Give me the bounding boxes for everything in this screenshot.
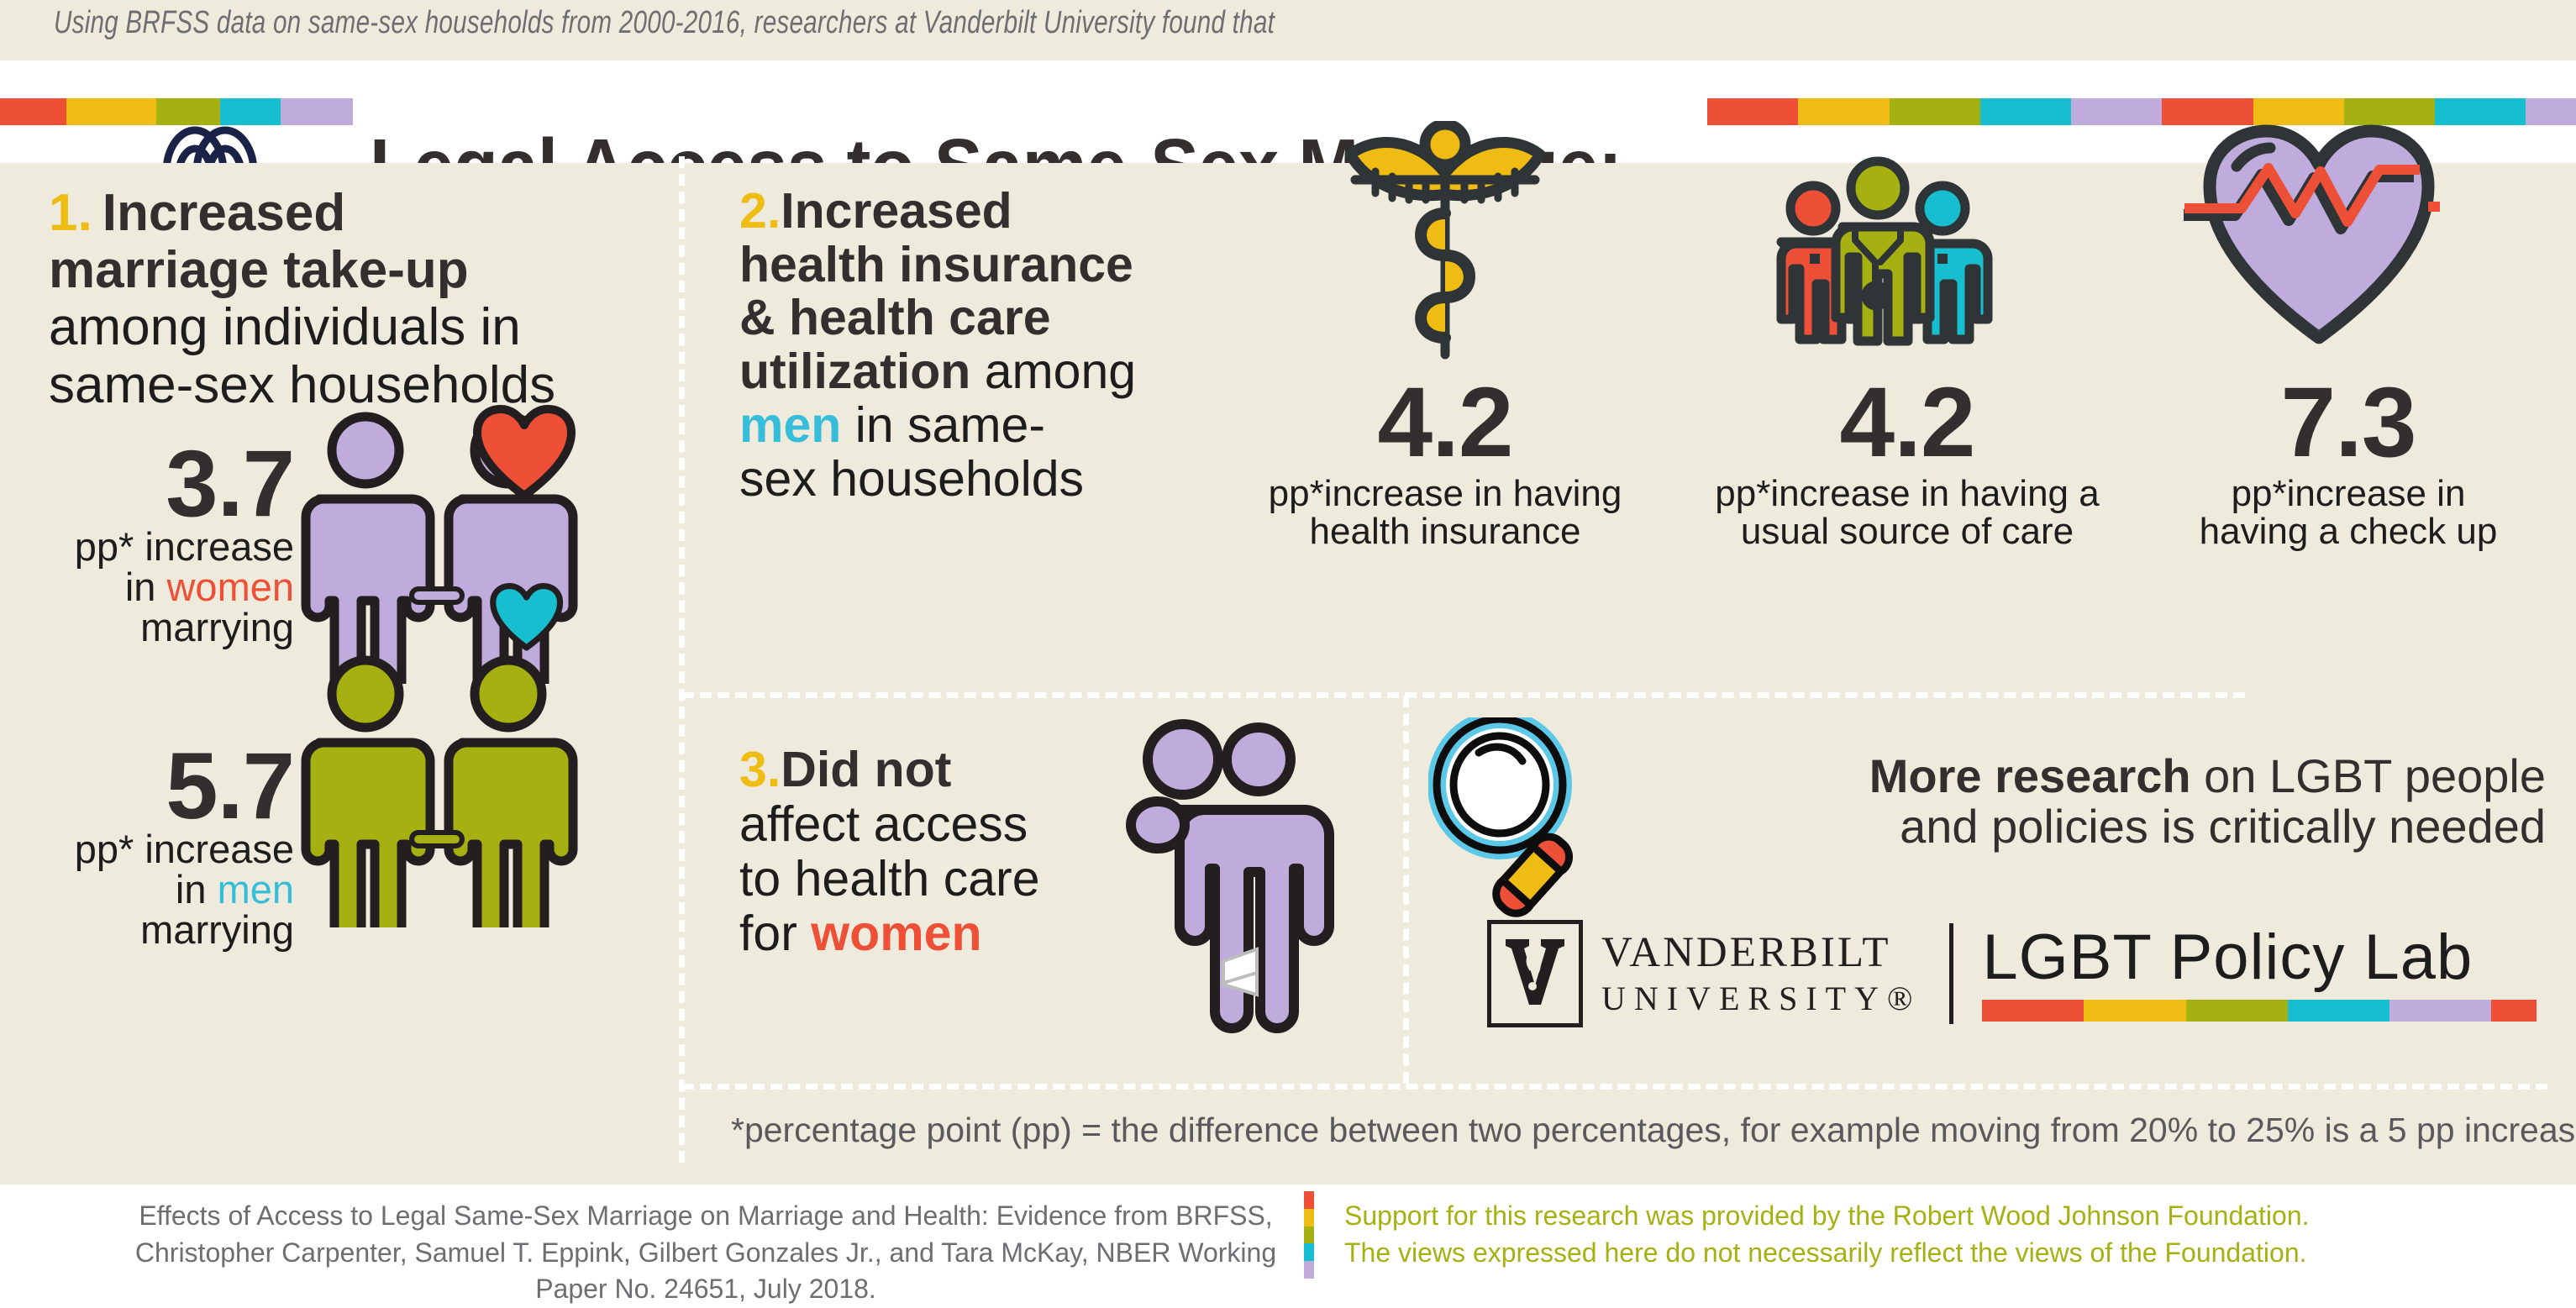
divider-horizontal-mid [682, 692, 2245, 698]
finding-3-bold-a: Did not [781, 742, 951, 797]
caduceus-icon [1323, 121, 1567, 373]
research-line2: and policies is critically needed [1900, 800, 2546, 853]
research-thin: on LGBT people [2204, 749, 2546, 802]
vanderbilt-v-icon [1487, 920, 1583, 1027]
vanderbilt-line2: UNIVERSITY® [1601, 982, 1921, 1016]
finding-2-bold-a: Increased [781, 183, 1012, 239]
marriage-stat-men: 5.7 pp* increase in men marrying [17, 743, 294, 950]
heart-ekg-icon [2176, 113, 2462, 356]
health-stat-checkup: 7.3 pp*increase in having a check up [2151, 373, 2546, 551]
finding-3-thin-a: affect access [739, 796, 1028, 852]
vanderbilt-logo: VANDERBILT UNIVERSITY® [1487, 920, 1921, 1027]
health-stat-usual-care-caption-2: usual source of care [1741, 511, 2074, 552]
finding-1-line1: Increased [103, 184, 346, 242]
research-bold: More research [1869, 749, 2191, 802]
marriage-stat-women-value: 3.7 [17, 440, 294, 527]
finding-3-marker: 3. [739, 742, 781, 797]
footnote-text: *percentage point (pp) = the difference … [731, 1111, 2546, 1150]
health-stat-checkup-value: 7.3 [2151, 373, 2546, 472]
health-stat-usual-care: 4.2 pp*increase in having a usual source… [1664, 373, 2151, 551]
main-body: 1.Increased marriage take-up among indiv… [0, 163, 2576, 1185]
marriage-stat-men-value: 5.7 [17, 743, 294, 829]
divider-vertical-left [679, 156, 685, 1163]
finding-1-heading: 1.Increased marriage take-up among indiv… [49, 185, 670, 414]
health-stat-checkup-caption-1: pp*increase in [2232, 473, 2466, 514]
citation-line2: Carpenter, Samuel T. Eppink, Gilbert Gon… [281, 1237, 1276, 1305]
marriage-stat-women-line2-prefix: in [125, 565, 167, 609]
couple-embrace-icon [1117, 717, 1369, 1070]
health-stat-insurance-value: 4.2 [1210, 373, 1680, 472]
marriage-stat-women-line1: pp* increase [75, 524, 294, 569]
marriage-stat-women: 3.7 pp* increase in women marrying [17, 440, 294, 648]
finding-2-thin-c: sex households [739, 451, 1084, 507]
finding-2-highlight: men [739, 397, 841, 453]
support-text: Support for this research was provided b… [1344, 1198, 2521, 1271]
finding-2-bold-d: utilization [739, 344, 970, 399]
health-stat-insurance: 4.2 pp*increase in having health insuran… [1210, 373, 1680, 551]
finding-3-highlight: women [811, 906, 981, 961]
marriage-stat-women-highlight: women [166, 565, 294, 609]
footer-rainbow-bar [1304, 1191, 1314, 1279]
divider-horizontal-bottom [682, 1084, 2547, 1090]
research-callout: More research on LGBT people and policie… [1428, 751, 2546, 853]
finding-1-line3: among individuals in [49, 298, 521, 356]
finding-2-bold-c: & health care [739, 290, 1051, 345]
marriage-stat-men-line3: marrying [140, 907, 294, 952]
infographic-page: Using BRFSS data on same-sex households … [0, 0, 2576, 1286]
finding-1-line2: marriage take-up [49, 241, 469, 299]
heart-cyan-icon [489, 583, 565, 652]
logo-divider [1949, 923, 1953, 1024]
finding-3-thin-b: to health care [739, 851, 1040, 906]
divider-vertical-right [1403, 696, 1409, 1084]
footer-bar: Effects of Access to Legal Same-Sex Marr… [0, 1185, 2576, 1286]
finding-3-heading: 3.Did not affect access to health care f… [739, 743, 1134, 961]
marriage-stat-men-line2-prefix: in [176, 867, 218, 911]
finding-2-bold-b: health insurance [739, 237, 1133, 292]
finding-3-block: 3.Did not affect access to health care f… [739, 743, 1134, 961]
heart-red-icon [472, 405, 577, 502]
finding-2-block: 2.Increased health insurance & health ca… [739, 185, 1210, 506]
support-line1: Support for this research was provided b… [1344, 1198, 2521, 1235]
finding-2-marker: 2. [739, 183, 781, 239]
health-stat-insurance-caption-2: health insurance [1310, 511, 1581, 552]
finding-2-thin-b: in same- [855, 397, 1045, 453]
support-line2: The views expressed here do not necessar… [1344, 1235, 2521, 1272]
logo-row: VANDERBILT UNIVERSITY® LGBT Policy Lab [1487, 919, 2554, 1028]
health-stat-insurance-caption-1: pp*increase in having [1269, 473, 1622, 514]
kicker-text: Using BRFSS data on same-sex households … [54, 5, 1275, 41]
finding-3-thin-c: for [739, 906, 797, 961]
finding-1-marker: 1. [49, 184, 92, 242]
finding-1-block: 1.Increased marriage take-up among indiv… [49, 185, 670, 414]
lgbt-policy-lab-logo: LGBT Policy Lab [1982, 926, 2537, 1022]
health-stat-checkup-caption-2: having a check up [2200, 511, 2498, 552]
vanderbilt-line1: VANDERBILT [1601, 932, 1921, 974]
lgbt-policy-lab-rainbow-bar [1982, 1000, 2537, 1022]
rainbow-bar-left [0, 98, 353, 125]
lgbt-policy-lab-name: LGBT Policy Lab [1982, 926, 2537, 990]
citation-text: Effects of Access to Legal Same-Sex Marr… [126, 1198, 1285, 1308]
marriage-stat-women-line3: marrying [140, 605, 294, 649]
vanderbilt-wordmark: VANDERBILT UNIVERSITY® [1601, 932, 1921, 1016]
research-text: More research on LGBT people and policie… [1428, 751, 2546, 853]
couple-men-icon [277, 650, 597, 927]
marriage-stat-men-line1: pp* increase [75, 827, 294, 871]
health-stat-usual-care-value: 4.2 [1664, 373, 2151, 472]
finding-2-thin-a: among [985, 344, 1136, 399]
people-group-icon [1756, 94, 2000, 363]
health-stat-usual-care-caption-1: pp*increase in having a [1715, 473, 2099, 514]
finding-2-heading: 2.Increased health insurance & health ca… [739, 185, 1210, 506]
kicker-bar: Using BRFSS data on same-sex households … [0, 0, 2576, 60]
